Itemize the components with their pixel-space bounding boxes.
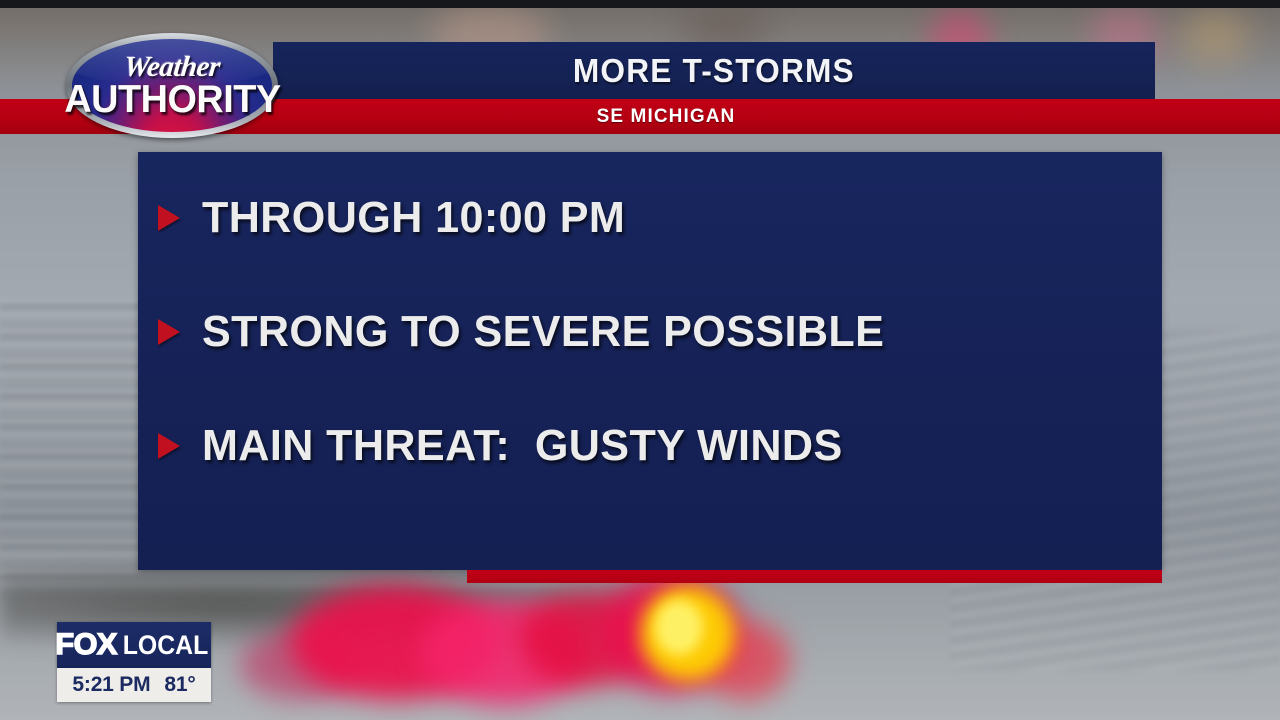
fox-local-logo: FOX LOCAL xyxy=(57,622,211,668)
forecast-panel: THROUGH 10:00 PM STRONG TO SEVERE POSSIB… xyxy=(138,152,1162,570)
bullet-list: THROUGH 10:00 PM STRONG TO SEVERE POSSIB… xyxy=(158,192,1162,570)
header-subtitle: SE MICHIGAN xyxy=(597,106,736,128)
time-temperature-strip: 5:21 PM 81° xyxy=(57,668,211,702)
bullet-text: STRONG TO SEVERE POSSIBLE xyxy=(202,307,884,357)
local-wordmark: LOCAL xyxy=(122,630,208,661)
bullet-text: THROUGH 10:00 PM xyxy=(202,193,625,243)
bullet-text: MAIN THREAT: GUSTY WINDS xyxy=(202,421,843,471)
panel-accent-underline xyxy=(467,570,1162,583)
broadcast-screen: MORE T-STORMS SE MICHIGAN Weather AUTHOR… xyxy=(0,0,1280,720)
background-bokeh-top-5 xyxy=(1180,10,1250,65)
logo-text-group: Weather AUTHORITY xyxy=(66,33,278,138)
header-title-bar: MORE T-STORMS xyxy=(273,42,1155,99)
current-temperature: 81° xyxy=(164,673,195,697)
fox-wordmark: FOX xyxy=(56,628,117,662)
list-item: STRONG TO SEVERE POSSIBLE xyxy=(158,306,1162,358)
triangle-right-icon xyxy=(158,205,180,231)
triangle-right-icon xyxy=(158,319,180,345)
current-time: 5:21 PM xyxy=(72,673,150,697)
page-title: MORE T-STORMS xyxy=(573,52,855,90)
weather-authority-logo: Weather AUTHORITY xyxy=(66,33,278,138)
logo-authority-text: AUTHORITY xyxy=(64,80,280,119)
station-bug: FOX LOCAL 5:21 PM 81° xyxy=(57,622,211,702)
list-item: THROUGH 10:00 PM xyxy=(158,192,1162,244)
list-item: MAIN THREAT: GUSTY WINDS xyxy=(158,420,1162,472)
letterbox-bar-top xyxy=(0,0,1280,8)
triangle-right-icon xyxy=(158,433,180,459)
background-flower-blur-yellow-core xyxy=(655,600,703,655)
